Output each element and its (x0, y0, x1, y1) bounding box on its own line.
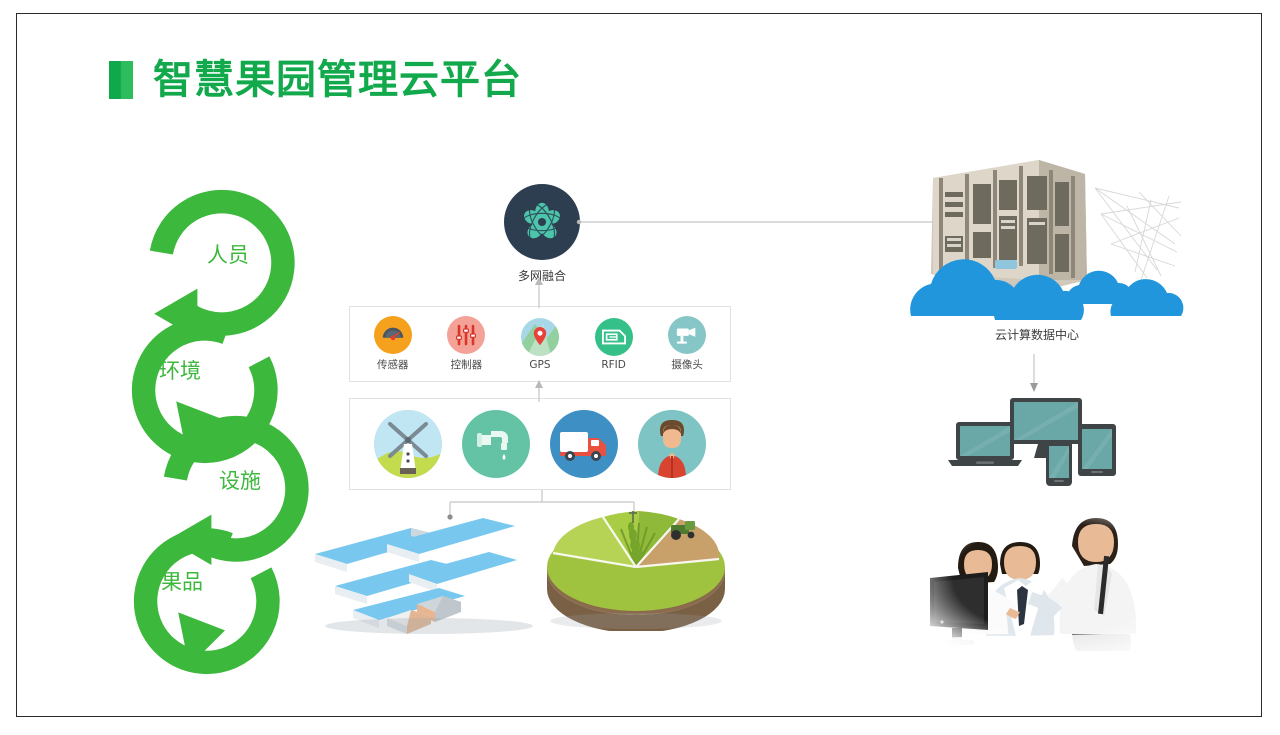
device-item-sensor[interactable]: 传感器 (360, 316, 426, 372)
device-item-camera[interactable]: 摄像头 (654, 316, 720, 372)
truck-icon[interactable] (550, 410, 618, 478)
server-rack-cloud-icon (889, 148, 1185, 348)
rfid-tag-icon (595, 318, 633, 356)
operators-photo (922, 506, 1192, 651)
client-devices-group (942, 396, 1132, 492)
water-tap-icon[interactable] (462, 410, 530, 478)
cloud-to-clients-arrow (1027, 354, 1041, 392)
greenhouse-cluster (313, 514, 545, 634)
slide-canvas: 智慧果园管理云平台 人员 环境 设施 果品 (16, 13, 1262, 717)
network-node-circle (504, 184, 580, 260)
cycle-label-2: 环境 (159, 355, 201, 385)
farmland-section (543, 509, 729, 631)
device-label-rfid: RFID (581, 359, 647, 371)
title-text: 智慧果园管理云平台 (153, 60, 522, 100)
device-label-gps: GPS (507, 359, 573, 371)
circular-arrow-icon (117, 508, 297, 688)
atom-network-icon (519, 199, 565, 245)
map-pin-icon (521, 318, 559, 356)
network-node-label: 多网融合 (499, 267, 585, 284)
farmer-icon[interactable] (638, 410, 706, 478)
title-bullet-icon (109, 61, 133, 99)
multi-network-node[interactable]: 多网融合 (499, 184, 585, 284)
farmland-cross-section-icon (543, 509, 729, 631)
device-label-sensor: 传感器 (360, 357, 426, 372)
gauge-sensor-icon (374, 316, 412, 354)
greenhouse-cluster-icon (313, 514, 545, 634)
device-item-gps[interactable]: GPS (507, 318, 573, 371)
multi-device-icon (942, 396, 1132, 492)
camera-icon (668, 316, 706, 354)
device-item-controller[interactable]: 控制器 (433, 316, 499, 372)
farm-asset-panel (349, 398, 731, 490)
page-title: 智慧果园管理云平台 (109, 60, 522, 100)
device-label-camera: 摄像头 (654, 357, 720, 372)
cloud-data-center: 云计算数据中心 (889, 148, 1185, 348)
windmill-icon[interactable] (374, 410, 442, 478)
slider-controller-icon (447, 316, 485, 354)
device-item-rfid[interactable]: RFID (581, 318, 647, 371)
cloud-data-center-label: 云计算数据中心 (889, 326, 1185, 343)
device-label-controller: 控制器 (433, 357, 499, 372)
sensing-device-panel: 传感器 (349, 306, 731, 382)
cycle-label-1: 人员 (207, 239, 249, 269)
cycle-label-3: 设施 (219, 465, 261, 495)
team-at-computer-photo (922, 506, 1192, 651)
cycle-loop-4: 果品 (117, 508, 297, 688)
cycle-label-4: 果品 (161, 566, 203, 596)
